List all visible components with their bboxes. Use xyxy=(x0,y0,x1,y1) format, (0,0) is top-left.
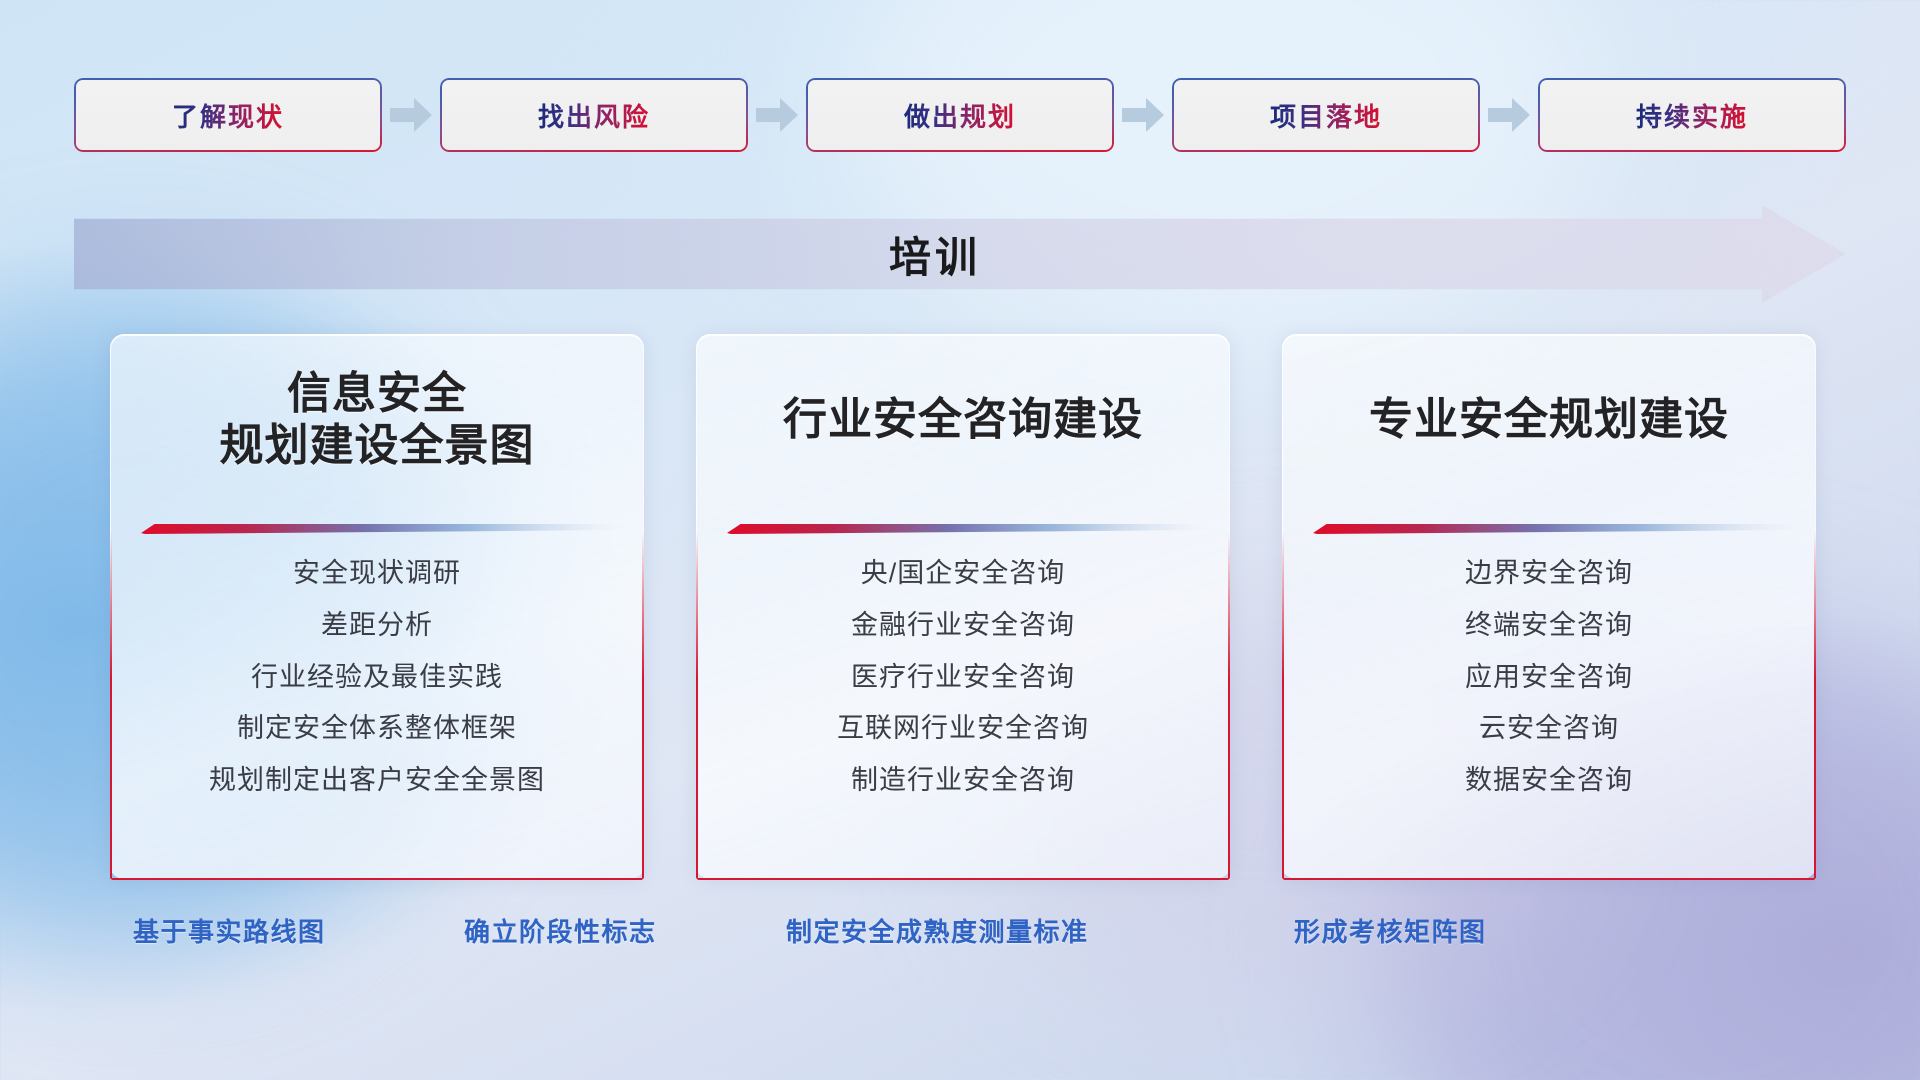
training-banner: 培训 xyxy=(74,205,1846,303)
list-item[interactable]: 终端安全咨询 xyxy=(1465,609,1633,643)
card-industry-consulting[interactable]: 行业安全咨询建设 央/国企安全咨询 金融行业安全咨询 医疗行业安全咨 xyxy=(696,334,1230,879)
process-step-4-label: 项目落地 xyxy=(1270,97,1382,134)
card-bottom-accent xyxy=(111,878,643,880)
list-item[interactable]: 应用安全咨询 xyxy=(1465,661,1633,695)
process-step-3[interactable]: 做出规划 xyxy=(806,78,1114,152)
process-step-1-label: 了解现状 xyxy=(172,97,284,134)
card-professional-planning-list: 边界安全咨询 终端安全咨询 应用安全咨询 云安全咨询 数据安全咨询 xyxy=(1283,557,1815,798)
card-bottom-accent xyxy=(697,878,1229,880)
card-title-line-1: 行业安全咨询建设 xyxy=(783,394,1143,446)
list-item[interactable]: 行业经验及最佳实践 xyxy=(251,661,503,695)
list-item[interactable]: 金融行业安全咨询 xyxy=(851,609,1075,643)
list-item[interactable]: 云安全咨询 xyxy=(1479,712,1619,746)
list-item[interactable]: 制定安全体系整体框架 xyxy=(237,712,517,746)
card-panorama[interactable]: 信息安全 规划建设全景图 安全现状调研 差距分析 行业经 xyxy=(110,334,644,879)
caption-maturity: 制定安全成熟度测量标准 xyxy=(786,912,1089,949)
card-bottom-accent xyxy=(1283,878,1815,880)
caption-matrix: 形成考核矩阵图 xyxy=(1294,912,1487,949)
training-banner-label: 培训 xyxy=(74,205,1846,303)
caption-row: 基于事实路线图 确立阶段性标志 制定安全成熟度测量标准 形成考核矩阵图 xyxy=(0,912,1920,958)
card-professional-planning-title: 专业安全规划建设 xyxy=(1283,335,1815,505)
process-step-4[interactable]: 项目落地 xyxy=(1172,78,1480,152)
list-item[interactable]: 数据安全咨询 xyxy=(1465,764,1633,798)
card-title-line-1: 信息安全 xyxy=(287,368,467,420)
list-item[interactable]: 差距分析 xyxy=(321,609,433,643)
caption-roadmap: 基于事实路线图 xyxy=(133,912,326,949)
list-item[interactable]: 规划制定出客户安全全景图 xyxy=(209,764,545,798)
gradient-divider-icon xyxy=(1313,521,1797,535)
card-industry-consulting-title: 行业安全咨询建设 xyxy=(697,335,1229,505)
background-bloom-top xyxy=(845,0,1605,360)
card-row: 信息安全 规划建设全景图 安全现状调研 差距分析 行业经 xyxy=(110,334,1816,879)
right-arrow-icon xyxy=(1114,78,1172,152)
right-arrow-icon xyxy=(748,78,806,152)
card-title-line-1: 专业安全规划建设 xyxy=(1369,394,1729,446)
list-item[interactable]: 医疗行业安全咨询 xyxy=(851,661,1075,695)
process-step-row: 了解现状 找出风险 做出规划 项目落地 持续实施 xyxy=(74,78,1846,152)
list-item[interactable]: 制造行业安全咨询 xyxy=(851,764,1075,798)
list-item[interactable]: 边界安全咨询 xyxy=(1465,557,1633,591)
list-item[interactable]: 安全现状调研 xyxy=(293,557,461,591)
caption-milestone: 确立阶段性标志 xyxy=(464,912,657,949)
card-title-line-2: 规划建设全景图 xyxy=(220,420,535,472)
list-item[interactable]: 央/国企安全咨询 xyxy=(861,557,1066,591)
card-panorama-list: 安全现状调研 差距分析 行业经验及最佳实践 制定安全体系整体框架 规划制定出客户… xyxy=(111,557,643,798)
process-step-5-label: 持续实施 xyxy=(1636,97,1748,134)
process-step-1[interactable]: 了解现状 xyxy=(74,78,382,152)
process-step-3-label: 做出规划 xyxy=(904,97,1016,134)
card-panorama-title: 信息安全 规划建设全景图 xyxy=(111,335,643,505)
process-step-5[interactable]: 持续实施 xyxy=(1538,78,1846,152)
gradient-divider-icon xyxy=(727,521,1211,535)
card-industry-consulting-list: 央/国企安全咨询 金融行业安全咨询 医疗行业安全咨询 互联网行业安全咨询 制造行… xyxy=(697,557,1229,798)
right-arrow-icon xyxy=(1480,78,1538,152)
gradient-divider-icon xyxy=(141,521,625,535)
right-arrow-icon xyxy=(382,78,440,152)
list-item[interactable]: 互联网行业安全咨询 xyxy=(837,712,1089,746)
process-step-2[interactable]: 找出风险 xyxy=(440,78,748,152)
process-step-2-label: 找出风险 xyxy=(538,97,650,134)
card-professional-planning[interactable]: 专业安全规划建设 边界安全咨询 终端安全咨询 应用安全咨询 xyxy=(1282,334,1816,879)
